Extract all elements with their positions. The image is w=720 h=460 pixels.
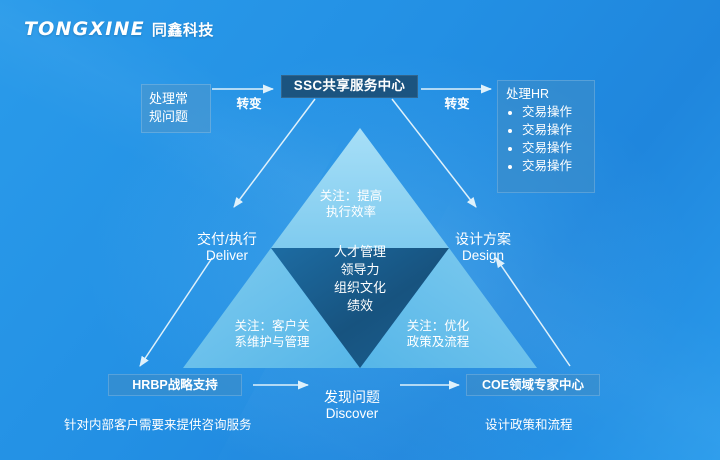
vertex-label-discover-cn: 发现问题 [324, 389, 380, 405]
core-competency-text: 人才管理 领导力 组织文化 绩效 [300, 243, 420, 315]
hrbp-box[interactable]: HRBP战略支持 [108, 374, 242, 396]
vertex-label-discover-en: Discover [306, 406, 398, 422]
vertex-label-deliver-en: Deliver [181, 248, 273, 264]
list-item: 交易操作 [522, 140, 586, 157]
handle-hr-title: 处理HR [506, 86, 586, 103]
ssc-center-box[interactable]: SSC共享服务中心 [281, 75, 418, 98]
focus-text-right: 关注：优化 政策及流程 [386, 318, 490, 351]
list-item: 交易操作 [522, 158, 586, 175]
focus-text-left: 关注：客户关 系维护与管理 [216, 318, 328, 351]
vertex-label-deliver-cn: 交付/执行 [197, 231, 257, 247]
arrow-label-conversion-right: 转变 [433, 97, 481, 112]
caption-hrbp: 针对内部客户需要来提供咨询服务 [64, 414, 252, 433]
arrow-label-conversion-left: 转变 [225, 97, 273, 112]
vertex-label-deliver: 交付/执行 Deliver [181, 214, 273, 282]
vertex-label-design: 设计方案 Design [437, 214, 529, 282]
vertex-label-discover: 发现问题 Discover [306, 372, 398, 440]
list-item: 交易操作 [522, 104, 586, 121]
list-item: 交易操作 [522, 122, 586, 139]
caption-coe: 设计政策和流程 [485, 414, 573, 433]
handle-hr-list: 交易操作 交易操作 交易操作 交易操作 [506, 104, 586, 175]
vertex-label-design-en: Design [437, 248, 529, 264]
slide-canvas: TONGXINE 同鑫科技 [0, 0, 720, 460]
focus-text-top: 关注：提高 执行效率 [296, 188, 406, 221]
handle-hr-box[interactable]: 处理HR 交易操作 交易操作 交易操作 交易操作 [497, 80, 595, 193]
vertex-label-design-cn: 设计方案 [455, 231, 511, 247]
coe-box[interactable]: COE领域专家中心 [466, 374, 600, 396]
routine-issues-box[interactable]: 处理常 规问题 [141, 84, 211, 133]
